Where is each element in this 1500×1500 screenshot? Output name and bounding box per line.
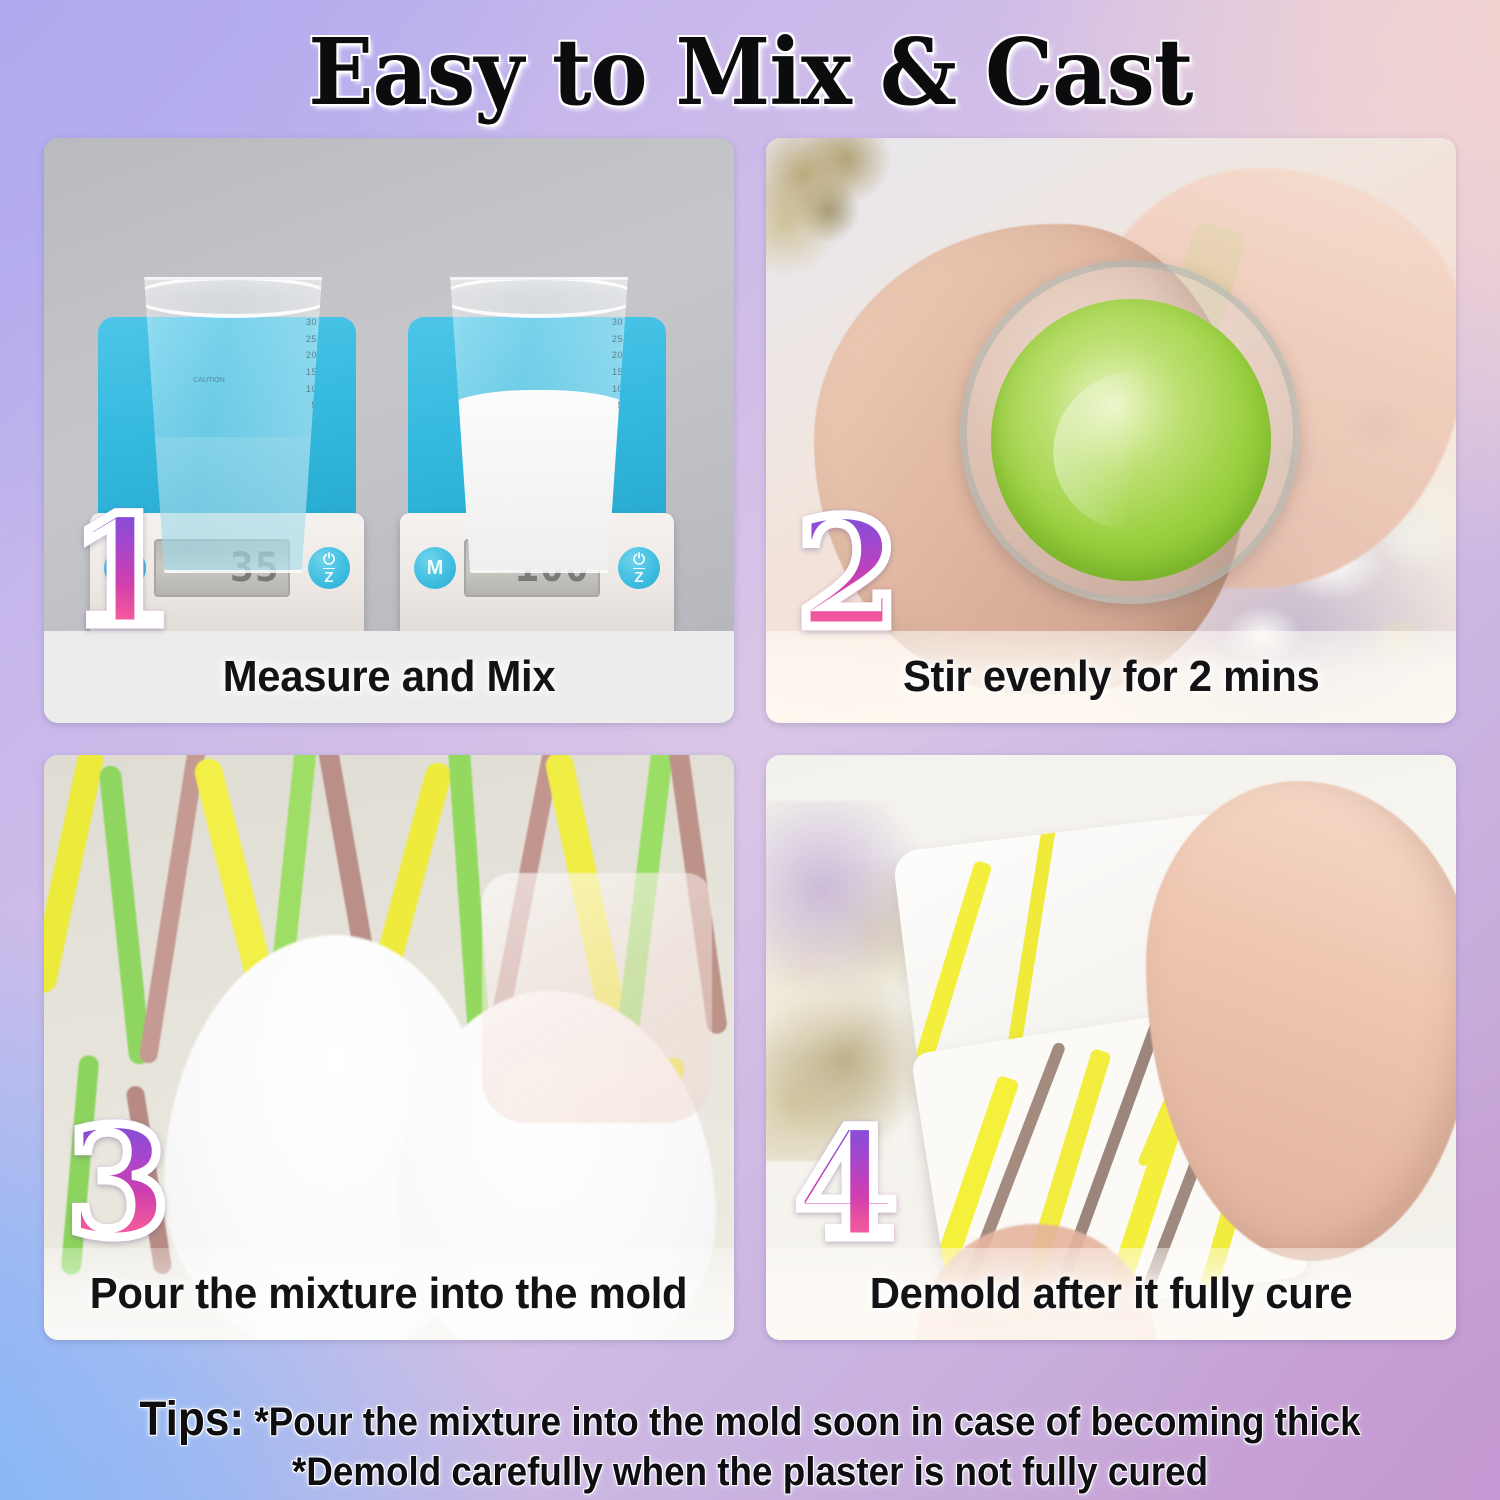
power-icon: ⏻Z	[633, 552, 645, 585]
cup-graduation-marks: 30252015105	[553, 314, 623, 414]
step-number-1: 1	[70, 508, 174, 637]
step-panel-4[interactable]: 4 Demold after it fully cure	[766, 755, 1456, 1340]
page-header: Easy to Mix & Cast	[0, 24, 1500, 121]
mode-button[interactable]: M	[414, 547, 456, 589]
power-icon: ⏻Z	[323, 552, 335, 585]
cup-rim	[438, 277, 640, 318]
step-number-3: 3	[66, 1119, 170, 1248]
step-panel-1[interactable]: M 35 ⏻Z 30252015105 CAUTION	[44, 138, 734, 723]
power-zero-button[interactable]: ⏻Z	[308, 547, 350, 589]
dried-flower-cluster	[766, 138, 916, 282]
pouring-cup	[482, 873, 712, 1123]
cup-graduation-marks: 30252015105	[247, 314, 317, 414]
step-2-caption: Stir evenly for 2 mins	[903, 652, 1320, 702]
mixture-swirl-highlight	[1029, 348, 1239, 555]
step-panel-3[interactable]: 3 Pour the mixture into the mold	[44, 755, 734, 1340]
cup-caution-label: CAUTION	[161, 376, 257, 387]
step-panel-2[interactable]: 2 Stir evenly for 2 mins	[766, 138, 1456, 723]
step-4-caption: Demold after it fully cure	[870, 1269, 1353, 1319]
step-number-2: 2	[796, 510, 900, 639]
green-mixture	[991, 299, 1271, 581]
power-zero-button[interactable]: ⏻Z	[618, 547, 660, 589]
cup-contents-powder	[441, 390, 637, 570]
measuring-cup-powder: 30252015105	[438, 277, 640, 573]
step-number-4: 4	[794, 1121, 898, 1250]
tips-line-1: *Pour the mixture into the mold soon in …	[254, 1400, 1360, 1444]
tips-section: Tips: *Pour the mixture into the mold so…	[0, 1392, 1500, 1496]
cup-rim	[132, 277, 334, 318]
tips-label: Tips:	[139, 1393, 244, 1446]
steps-grid: M 35 ⏻Z 30252015105 CAUTION	[44, 138, 1456, 1360]
page-title: Easy to Mix & Cast	[308, 24, 1192, 121]
tips-first-line: Tips: *Pour the mixture into the mold so…	[60, 1392, 1440, 1449]
tips-second-line: *Demold carefully when the plaster is no…	[60, 1449, 1440, 1496]
mixing-cup	[960, 260, 1300, 604]
step-1-caption: Measure and Mix	[223, 652, 556, 702]
step-3-caption: Pour the mixture into the mold	[90, 1269, 688, 1319]
